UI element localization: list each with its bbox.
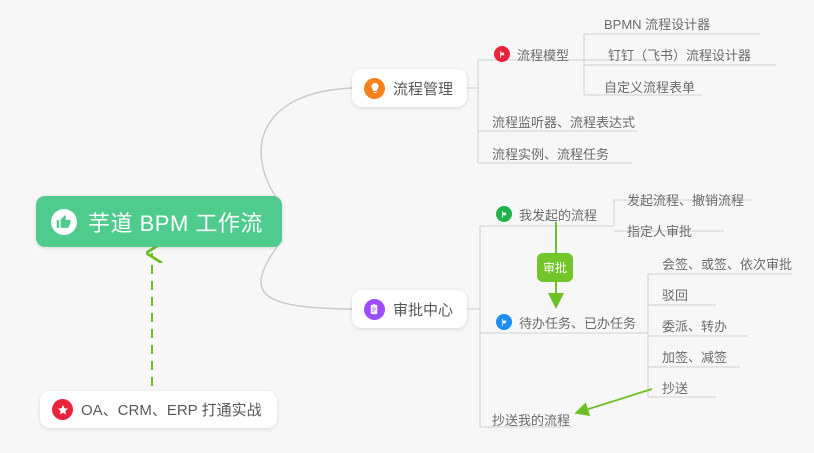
footnote-node[interactable]: OA、CRM、ERP 打通实战 (40, 391, 277, 428)
node-todo-done-tasks[interactable]: 待办任务、已办任务 (496, 312, 636, 332)
clipboard-icon (364, 299, 385, 320)
node-delegate-transfer[interactable]: 委派、转办 (662, 315, 727, 335)
node-dingtalk-designer-label: 钉钉（飞书）流程设计器 (608, 45, 751, 64)
flag-icon (496, 206, 512, 222)
node-assignee-approval[interactable]: 指定人审批 (627, 220, 692, 240)
node-process-model[interactable]: 流程模型 (494, 44, 569, 64)
branch-approval-center[interactable]: 审批中心 (352, 290, 467, 328)
approve-annotation-chip: 审批 (537, 253, 573, 282)
star-icon (52, 399, 73, 420)
node-bpmn-designer[interactable]: BPMN 流程设计器 (604, 13, 710, 33)
node-bpmn-designer-label: BPMN 流程设计器 (604, 14, 710, 33)
node-custom-form[interactable]: 自定义流程表单 (604, 76, 695, 96)
node-my-initiated-label: 我发起的流程 (519, 205, 597, 224)
node-assignee-approval-label: 指定人审批 (627, 221, 692, 240)
node-process-model-label: 流程模型 (517, 45, 569, 64)
node-instance-task[interactable]: 流程实例、流程任务 (492, 143, 609, 163)
node-cc-to-me-label: 抄送我的流程 (492, 410, 570, 429)
node-my-initiated[interactable]: 我发起的流程 (496, 204, 597, 224)
footnote-label: OA、CRM、ERP 打通实战 (81, 399, 262, 420)
branch-approval-center-label: 审批中心 (393, 299, 453, 320)
node-add-remove-sign-label: 加签、减签 (662, 347, 727, 366)
approve-annotation-label: 审批 (543, 259, 567, 276)
node-reject-label: 驳回 (662, 285, 688, 304)
node-cc-label: 抄送 (662, 378, 688, 397)
node-dingtalk-designer[interactable]: 钉钉（飞书）流程设计器 (608, 44, 751, 64)
node-countersign[interactable]: 会签、或签、依次审批 (662, 253, 792, 273)
branch-flow-management-label: 流程管理 (393, 78, 453, 99)
mindmap-canvas: 芋道 BPM 工作流 流程管理 流程模型 BPMN 流程设计器 钉钉（飞书）流程… (0, 0, 814, 453)
root-node[interactable]: 芋道 BPM 工作流 (36, 196, 282, 247)
node-start-cancel-process-label: 发起流程、撤销流程 (627, 190, 744, 209)
node-cc[interactable]: 抄送 (662, 377, 688, 397)
node-countersign-label: 会签、或签、依次审批 (662, 254, 792, 273)
node-instance-task-label: 流程实例、流程任务 (492, 144, 609, 163)
flag-icon (496, 314, 512, 330)
node-add-remove-sign[interactable]: 加签、减签 (662, 346, 727, 366)
node-listener-expression[interactable]: 流程监听器、流程表达式 (492, 111, 635, 131)
thumbs-up-icon (51, 209, 77, 235)
node-start-cancel-process[interactable]: 发起流程、撤销流程 (627, 189, 744, 209)
node-cc-to-me[interactable]: 抄送我的流程 (492, 409, 570, 429)
node-reject[interactable]: 驳回 (662, 284, 688, 304)
node-todo-done-tasks-label: 待办任务、已办任务 (519, 313, 636, 332)
lightbulb-icon (364, 78, 385, 99)
node-listener-expression-label: 流程监听器、流程表达式 (492, 112, 635, 131)
root-label: 芋道 BPM 工作流 (88, 206, 263, 238)
node-delegate-transfer-label: 委派、转办 (662, 316, 727, 335)
branch-flow-management[interactable]: 流程管理 (352, 69, 467, 107)
node-custom-form-label: 自定义流程表单 (604, 77, 695, 96)
flag-icon (494, 46, 510, 62)
